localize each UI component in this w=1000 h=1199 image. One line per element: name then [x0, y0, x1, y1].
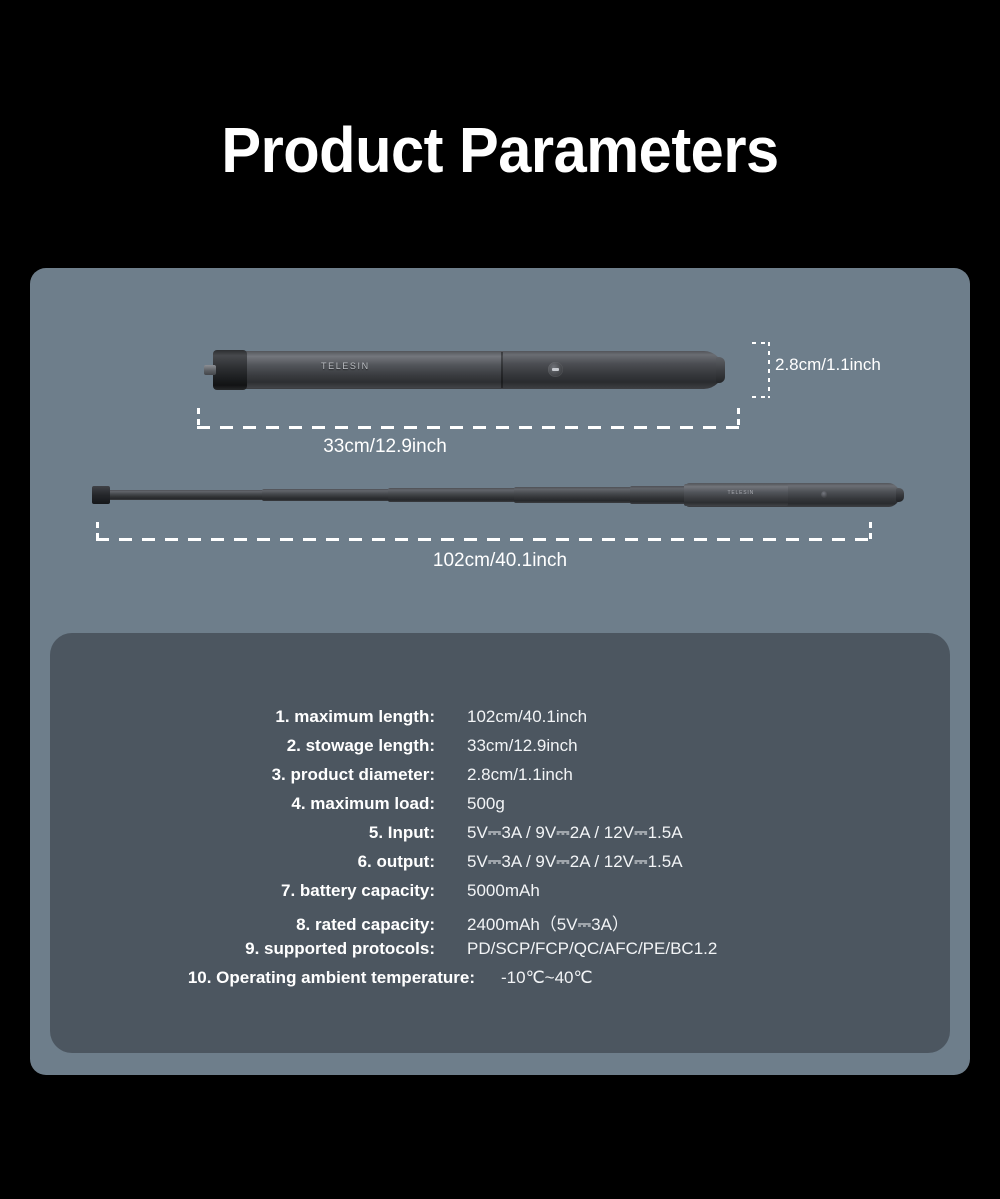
spec-label: 2. stowage length: [50, 736, 435, 756]
bracket-tick-right [737, 408, 740, 429]
spec-value: 2.8cm/1.1inch [435, 765, 950, 785]
specifications-panel: 1. maximum length: 102cm/40.1inch 2. sto… [50, 633, 950, 1053]
diameter-measure-bracket [752, 342, 770, 398]
table-row: 5. Input: 5V⎓3A / 9V⎓2A / 12V⎓1.5A [50, 823, 950, 852]
pole-tip [896, 488, 904, 502]
spec-label: 4. maximum load: [50, 794, 435, 814]
product-image-extended-pole: TELESIN [92, 480, 900, 510]
spec-label: 3. product diameter: [50, 765, 435, 785]
power-button-icon [548, 362, 563, 377]
pole-segment [514, 487, 634, 503]
spec-label: 9. supported protocols: [50, 939, 435, 959]
bracket-tick-right [869, 522, 872, 541]
spec-label: 5. Input: [50, 823, 435, 843]
bracket-line-horizontal [197, 426, 740, 429]
bracket-line-vertical [768, 342, 770, 398]
table-row: 10. Operating ambient temperature: -10℃~… [50, 968, 950, 997]
table-row: 3. product diameter: 2.8cm/1.1inch [50, 765, 950, 794]
spec-value: 5000mAh [435, 881, 950, 901]
product-images: TELESIN 2.8cm/1.1inch 33cm/12.9inch [30, 268, 970, 620]
product-showcase-panel: TELESIN 2.8cm/1.1inch 33cm/12.9inch [30, 268, 970, 1075]
pole-segment [106, 490, 266, 500]
pole-segment [262, 489, 392, 501]
spec-label: 8. rated capacity: [50, 915, 435, 935]
spec-value: 500g [435, 794, 950, 814]
spec-label: 7. battery capacity: [50, 881, 435, 901]
bracket-tick-bottom [752, 396, 770, 398]
table-row: 7. battery capacity: 5000mAh [50, 881, 950, 910]
bracket-line-horizontal [96, 538, 872, 541]
spec-value: PD/SCP/FCP/QC/AFC/PE/BC1.2 [435, 939, 950, 959]
pole-seam [501, 352, 503, 388]
specifications-table: 1. maximum length: 102cm/40.1inch 2. sto… [50, 707, 950, 997]
page-title: Product Parameters [35, 118, 965, 182]
spec-value: 5V⎓3A / 9V⎓2A / 12V⎓1.5A [435, 823, 950, 843]
pole-segment [388, 488, 518, 502]
brand-logo-collapsed: TELESIN [321, 361, 370, 371]
stowage-length-bracket [197, 400, 740, 428]
spec-value: 33cm/12.9inch [435, 736, 950, 756]
table-row: 6. output: 5V⎓3A / 9V⎓2A / 12V⎓1.5A [50, 852, 950, 881]
diameter-measure-label: 2.8cm/1.1inch [775, 355, 881, 375]
pole-end-cap [213, 350, 247, 390]
product-image-collapsed-pole: TELESIN [196, 348, 741, 392]
stowage-length-label: 33cm/12.9inch [30, 436, 740, 458]
table-row: 4. maximum load: 500g [50, 794, 950, 823]
screw-mount-nub-icon [204, 365, 216, 375]
spec-value: -10℃~40℃ [475, 968, 950, 988]
power-button-icon [821, 491, 828, 498]
spec-value: 2400mAh（5V⎓3A） [435, 910, 950, 935]
spec-label: 1. maximum length: [50, 707, 435, 727]
table-row: 8. rated capacity: 2400mAh（5V⎓3A） [50, 910, 950, 939]
table-row: 9. supported protocols: PD/SCP/FCP/QC/AF… [50, 939, 950, 968]
table-row: 1. maximum length: 102cm/40.1inch [50, 707, 950, 736]
spec-value: 102cm/40.1inch [435, 707, 950, 727]
spec-label: 10. Operating ambient temperature: [50, 968, 475, 988]
maximum-length-bracket [96, 516, 872, 540]
table-row: 2. stowage length: 33cm/12.9inch [50, 736, 950, 765]
maximum-length-label: 102cm/40.1inch [30, 550, 970, 572]
pole-tip [716, 357, 725, 383]
spec-value: 5V⎓3A / 9V⎓2A / 12V⎓1.5A [435, 852, 950, 872]
spec-label: 6. output: [50, 852, 435, 872]
brand-logo-extended: TELESIN [728, 490, 754, 496]
pole-end-cap [92, 486, 110, 504]
